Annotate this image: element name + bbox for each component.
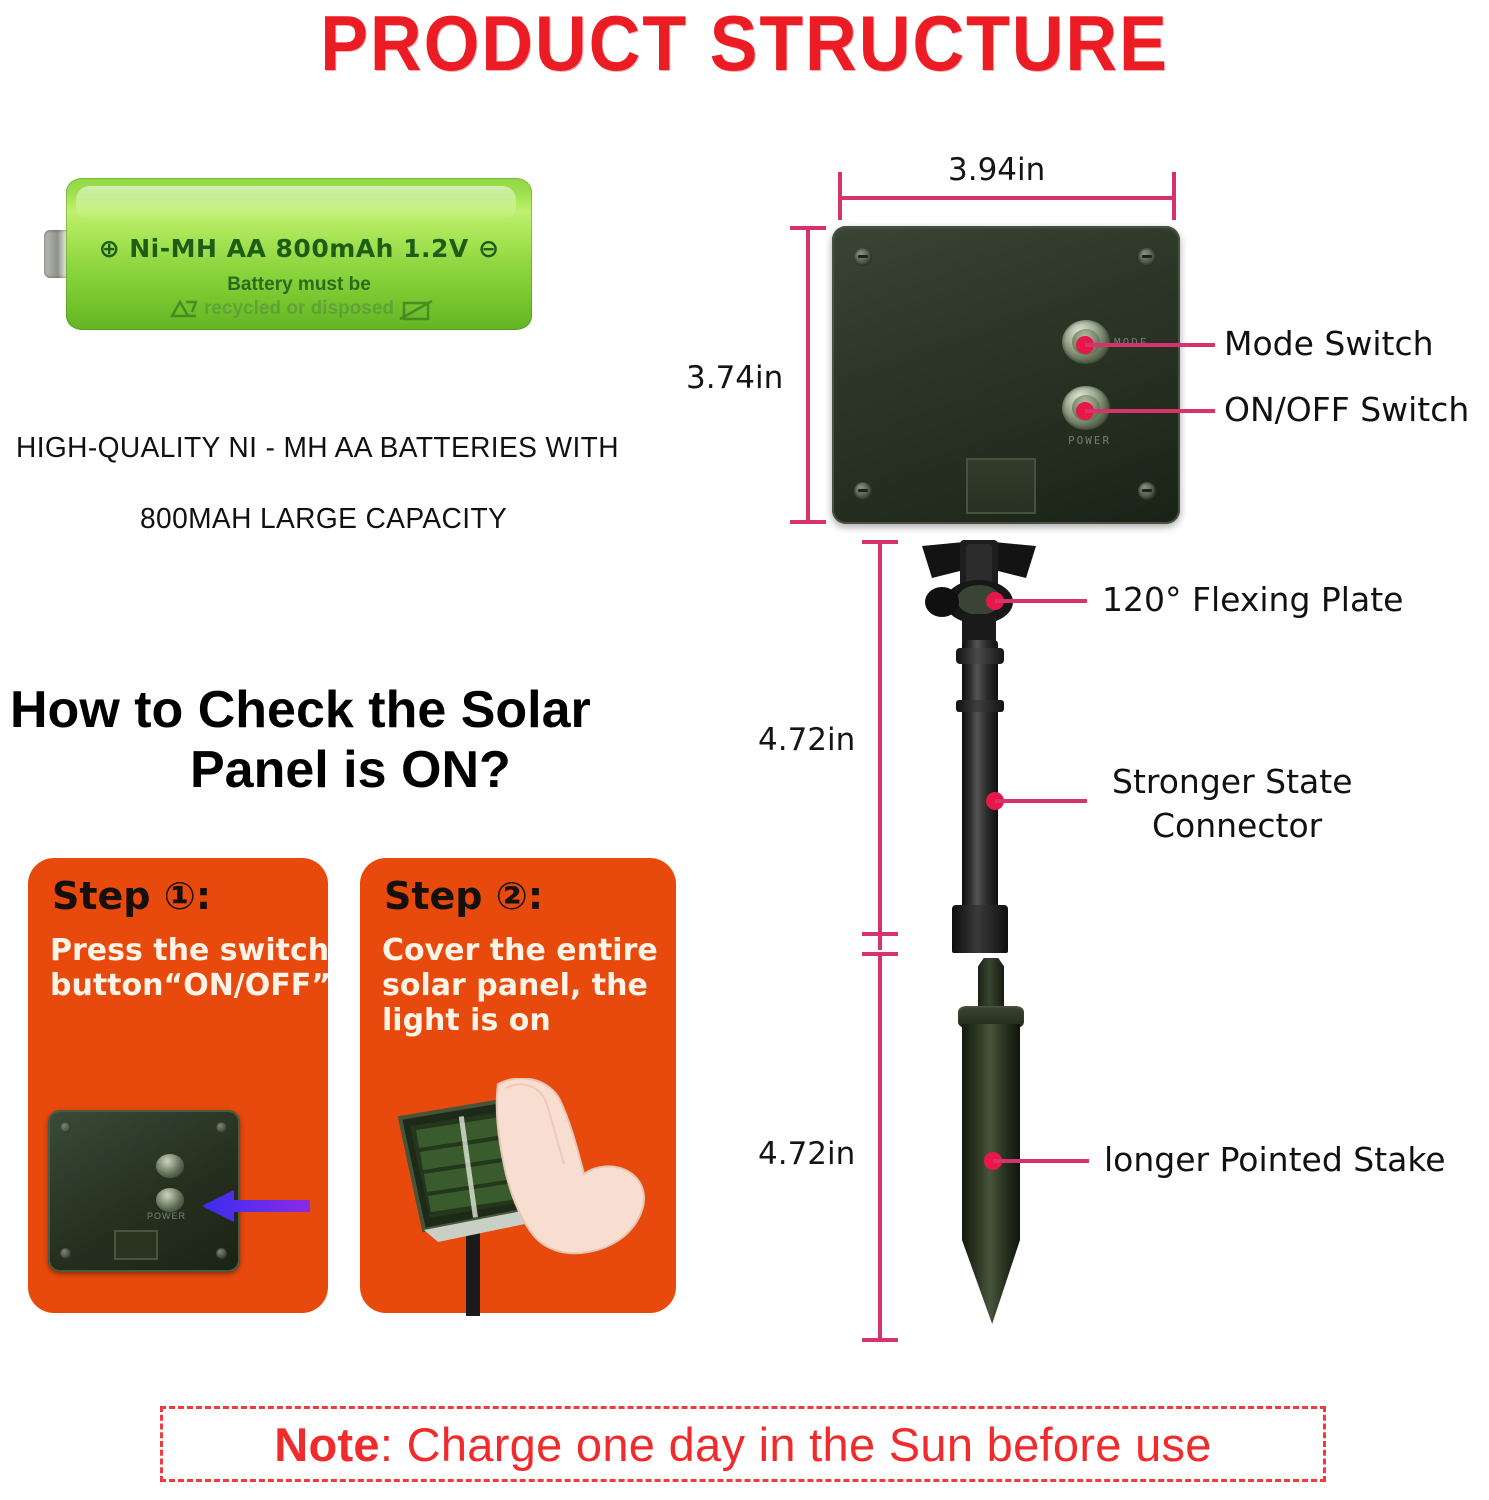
screw-icon (60, 1248, 71, 1259)
callout-onoff-switch: ON/OFF Switch (1224, 390, 1469, 429)
screw-icon (854, 248, 872, 266)
callout-mode-switch: Mode Switch (1224, 324, 1434, 363)
battery-spec-text: ⊕ Ni-MH AA 800mAh 1.2V ⊖ (66, 234, 532, 263)
dim-stake-label: 4.72in (758, 1136, 855, 1172)
dim-panel-height-label: 3.74in (686, 360, 783, 396)
connector-ring-lower (956, 700, 1004, 712)
battery-gloss (76, 186, 516, 220)
dim-width-tick-left (838, 172, 842, 220)
stake-top-cap (978, 958, 1004, 1010)
dim-stake-tick-bottom (862, 1338, 898, 1342)
hand-icon (497, 1078, 644, 1253)
stake-leader-line (993, 1159, 1089, 1163)
recycle-icon (166, 296, 206, 322)
screw-icon (854, 482, 872, 500)
step-2-illustration (382, 1078, 682, 1316)
battery-body: ⊕ Ni-MH AA 800mAh 1.2V ⊖ Battery must be… (66, 178, 532, 330)
dim-connector-label: 4.72in (758, 722, 855, 758)
battery-caption-line1: HIGH-QUALITY NI - MH AA BATTERIES WITH (16, 432, 619, 465)
battery-spec-value: Ni-MH AA 800mAh 1.2V (129, 234, 469, 263)
step-1-power-caption: POWER (147, 1211, 186, 1221)
onoff-switch-leader-line (1085, 409, 1215, 413)
howto-heading-line2: Panel is ON? (190, 740, 511, 800)
solar-panel-back: MODE POWER (832, 226, 1180, 524)
callout-connector-line1: Stronger State (1112, 762, 1353, 801)
dim-height-tick-top (790, 226, 826, 230)
battery-caption-line2: 800MAH LARGE CAPACITY (140, 503, 507, 536)
step-1-mount-slot (114, 1230, 158, 1260)
dim-height-tick-bottom (790, 520, 826, 524)
screw-icon (1138, 482, 1156, 500)
step-1-onoff-switch (156, 1188, 184, 1212)
battery-minus-icon: ⊖ (478, 234, 499, 263)
dim-height-line (806, 226, 810, 524)
dim-connector-line (878, 540, 882, 950)
step-2-title: Step ②: (384, 874, 543, 918)
battery-recycle-line2: recycled or disposed (66, 298, 532, 320)
dim-stake-line (878, 952, 882, 1342)
dim-connector-tick-top (862, 540, 898, 544)
flexing-plate-bracket (916, 540, 1042, 648)
step-2-body: Cover the entire solar panel, the light … (382, 934, 672, 1038)
connector-leader-line (995, 799, 1087, 803)
no-bin-icon (396, 296, 436, 322)
dim-width-tick-right (1172, 172, 1176, 220)
howto-heading-line1: How to Check the Solar (10, 680, 591, 740)
mode-switch-leader-line (1085, 343, 1215, 347)
callout-pointed-stake: longer Pointed Stake (1104, 1140, 1446, 1179)
flexing-plate-leader-line (995, 599, 1087, 603)
screw-icon (60, 1122, 71, 1133)
power-caption: POWER (1068, 434, 1111, 447)
battery-plus-icon: ⊕ (99, 234, 120, 263)
battery-recycle-line1: Battery must be (66, 274, 532, 296)
battery-illustration: ⊕ Ni-MH AA 800mAh 1.2V ⊖ Battery must be… (44, 178, 532, 330)
note-prefix: Note (274, 1418, 380, 1471)
callout-flexing-plate: 120° Flexing Plate (1102, 580, 1403, 619)
connector-base (952, 905, 1008, 953)
dim-stake-tick-top (862, 952, 898, 956)
panel-mount-boss (966, 458, 1036, 514)
screw-icon (216, 1248, 227, 1259)
step-1-mode-switch (156, 1154, 184, 1178)
pointed-stake-body (962, 1024, 1020, 1324)
step-1-pointer-arrow (200, 1186, 310, 1226)
note-text: Note: Charge one day in the Sun before u… (274, 1417, 1212, 1472)
screw-icon (1138, 248, 1156, 266)
step-1-body: Press the switch button“ON/OFF” (50, 934, 328, 1004)
page-title: PRODUCT STRUCTURE (60, 0, 1430, 89)
dim-panel-width-label: 3.94in (948, 152, 1045, 188)
dim-connector-tick-bottom (862, 932, 898, 936)
callout-connector-line2: Connector (1152, 806, 1322, 845)
note-body: : Charge one day in the Sun before use (380, 1418, 1212, 1471)
note-box: Note: Charge one day in the Sun before u… (160, 1406, 1326, 1482)
connector-ring-upper (956, 648, 1004, 664)
step-1-title: Step ①: (52, 874, 211, 918)
screw-icon (216, 1122, 227, 1133)
dim-width-line (838, 196, 1176, 200)
